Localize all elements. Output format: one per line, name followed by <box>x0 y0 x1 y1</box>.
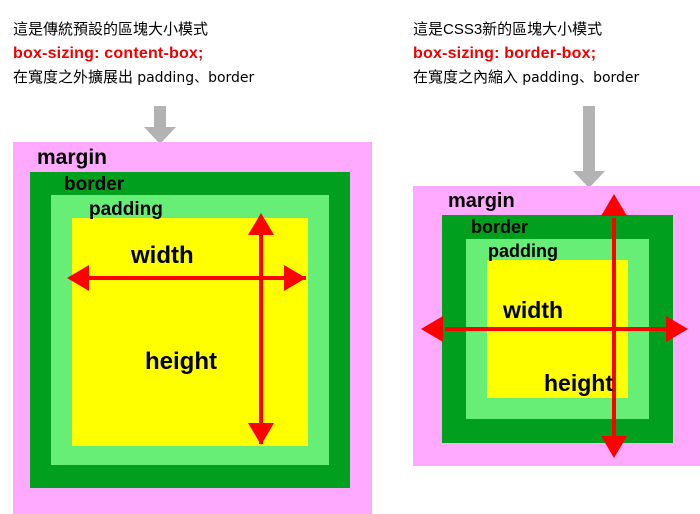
label-width: width <box>131 242 194 270</box>
label-height: height <box>145 348 217 376</box>
caption-left-line-3: 在寬度之外擴展出 padding、border <box>13 66 254 90</box>
caption-content-box: 這是傳統預設的區塊大小模式 box-sizing: content-box; 在… <box>13 18 254 90</box>
label-height: height <box>544 370 613 397</box>
arrowhead-up-icon <box>248 213 274 235</box>
box-model-diagram-border-box: margin border padding width height <box>413 186 700 466</box>
caption-right-line-3-en: padding、border <box>522 70 639 86</box>
label-margin: margin <box>448 190 515 213</box>
label-margin: margin <box>37 146 107 170</box>
label-padding: padding <box>89 199 163 221</box>
label-border: border <box>471 217 528 238</box>
measure-line-vertical <box>612 218 616 440</box>
measure-line-horizontal <box>74 276 306 280</box>
caption-border-box: 這是CSS3新的區塊大小模式 box-sizing: border-box; 在… <box>413 18 639 90</box>
measure-line-horizontal <box>445 327 670 331</box>
arrowhead-down-icon <box>248 423 274 445</box>
caption-left-line-3-en: padding、border <box>137 70 254 86</box>
label-border: border <box>64 174 124 196</box>
down-arrow-icon-right <box>572 106 606 188</box>
caption-right-line-3: 在寬度之內縮入 padding、border <box>413 66 639 90</box>
label-padding: padding <box>488 241 558 262</box>
arrowhead-left-icon <box>67 265 89 291</box>
diagram-canvas: 這是傳統預設的區塊大小模式 box-sizing: content-box; 在… <box>0 0 700 514</box>
caption-left-line-3-cjk: 在寬度之外擴展出 <box>13 69 133 86</box>
measure-line-vertical <box>259 220 263 444</box>
down-arrow-icon-left <box>143 106 177 144</box>
arrowhead-left-icon <box>421 316 443 342</box>
arrowhead-right-icon <box>284 265 306 291</box>
arrowhead-down-icon <box>601 436 627 458</box>
caption-right-line-3-cjk: 在寬度之內縮入 <box>413 69 518 86</box>
caption-right-code: box-sizing: border-box; <box>413 42 639 66</box>
label-width: width <box>503 297 563 324</box>
caption-left-line-1: 這是傳統預設的區塊大小模式 <box>13 18 254 42</box>
arrowhead-up-icon <box>601 194 627 216</box>
caption-right-line-1: 這是CSS3新的區塊大小模式 <box>413 18 639 42</box>
arrow-shaft <box>154 106 166 129</box>
arrowhead-right-icon <box>666 316 688 342</box>
arrow-shaft <box>583 106 595 173</box>
box-model-diagram-content-box: margin border padding width height <box>13 142 372 514</box>
caption-left-code: box-sizing: content-box; <box>13 42 254 66</box>
